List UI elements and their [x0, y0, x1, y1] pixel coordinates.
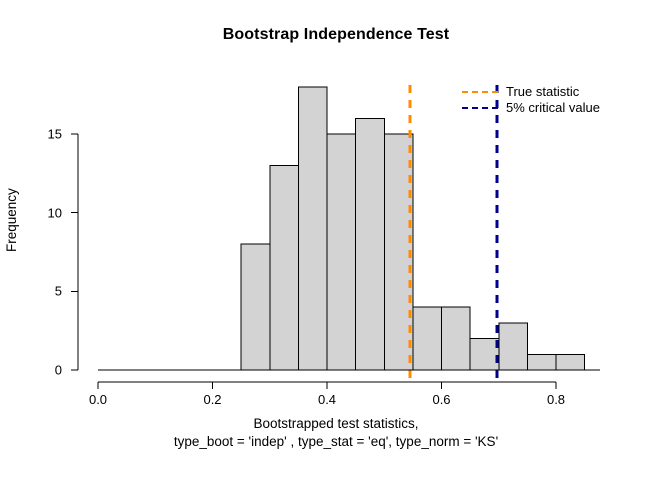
- legend: True statistic 5% critical value: [462, 84, 662, 116]
- histogram-bar: [356, 118, 385, 370]
- legend-label-critical-value: 5% critical value: [506, 100, 600, 116]
- y-axis-label: Frequency: [4, 188, 19, 252]
- x-tick-label: 0.8: [547, 392, 565, 407]
- legend-label-true-statistic: True statistic: [506, 84, 579, 100]
- histogram-bar: [556, 354, 585, 370]
- histogram-bars: [241, 87, 585, 370]
- histogram-bar: [527, 354, 556, 370]
- histogram-bar: [413, 307, 442, 370]
- y-tick-label: 10: [40, 205, 62, 220]
- histogram-bar: [241, 244, 270, 370]
- histogram-bar: [327, 134, 356, 370]
- x-tick-label: 0.2: [203, 392, 221, 407]
- plot-root: Bootstrap Independence Test 0.00.20.40.6…: [0, 0, 672, 480]
- legend-swatch-critical-value: [462, 107, 498, 109]
- x-axis-label-line2: type_boot = 'indep' , type_stat = 'eq', …: [0, 434, 672, 449]
- plot-panel: 0.00.20.40.60.8 051015: [0, 0, 672, 480]
- legend-item-true-statistic: True statistic: [462, 84, 662, 100]
- x-tick-label: 0.0: [89, 392, 107, 407]
- legend-swatch-true-statistic: [462, 91, 498, 93]
- histogram-bar: [499, 323, 528, 370]
- x-axis-label-line1: Bootstrapped test statistics,: [0, 416, 672, 431]
- x-tick-label: 0.4: [318, 392, 336, 407]
- histogram-bar: [470, 339, 499, 370]
- histogram-svg: [0, 0, 672, 480]
- legend-item-critical-value: 5% critical value: [462, 100, 662, 116]
- histogram-bar: [270, 165, 299, 370]
- x-tick-label: 0.6: [432, 392, 450, 407]
- y-tick-label: 5: [40, 284, 62, 299]
- histogram-bar: [298, 87, 327, 370]
- y-tick-label: 0: [40, 363, 62, 378]
- histogram-bar: [442, 307, 471, 370]
- y-tick-label: 15: [40, 127, 62, 142]
